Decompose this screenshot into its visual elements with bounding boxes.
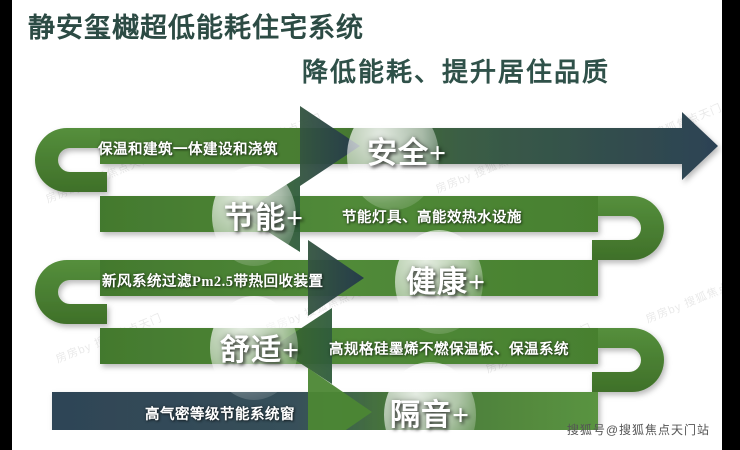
slide-content: 房房by 搜狐焦点天门 房房by 搜狐焦点天门 房房by 搜狐焦点天门 房房by…	[12, 0, 722, 450]
row-label-2: 节能+	[224, 193, 304, 237]
row-label-5: 隔音+	[390, 390, 470, 434]
slide-canvas: 房房by 搜狐焦点天门 房房by 搜狐焦点天门 房房by 搜狐焦点天门 房房by…	[0, 0, 740, 450]
row-description-3: 新风系统过滤Pm2.5带热回收装置	[102, 270, 324, 291]
row-description-5: 高气密等级节能系统窗	[145, 403, 295, 424]
row-description-4: 高规格硅墨烯不燃保温板、保温系统	[329, 338, 569, 359]
row-label-3: 健康+	[406, 257, 486, 301]
serpentine-diagram: 保温和建筑一体建设和浇筑 安全+ 节能+ 节能灯具、高能效热水设施 新风系统过滤…	[12, 100, 722, 430]
row-label-1: 安全+	[367, 128, 447, 172]
row-description-2: 节能灯具、高能效热水设施	[342, 206, 522, 227]
row-label-4: 舒适+	[220, 325, 300, 369]
source-credit: 搜狐号@搜狐焦点天门站	[567, 421, 710, 438]
row-description-1: 保温和建筑一体建设和浇筑	[98, 138, 278, 159]
page-title: 静安玺樾超低能耗住宅系统	[28, 6, 364, 45]
page-subtitle: 降低能耗、提升居住品质	[302, 52, 610, 89]
